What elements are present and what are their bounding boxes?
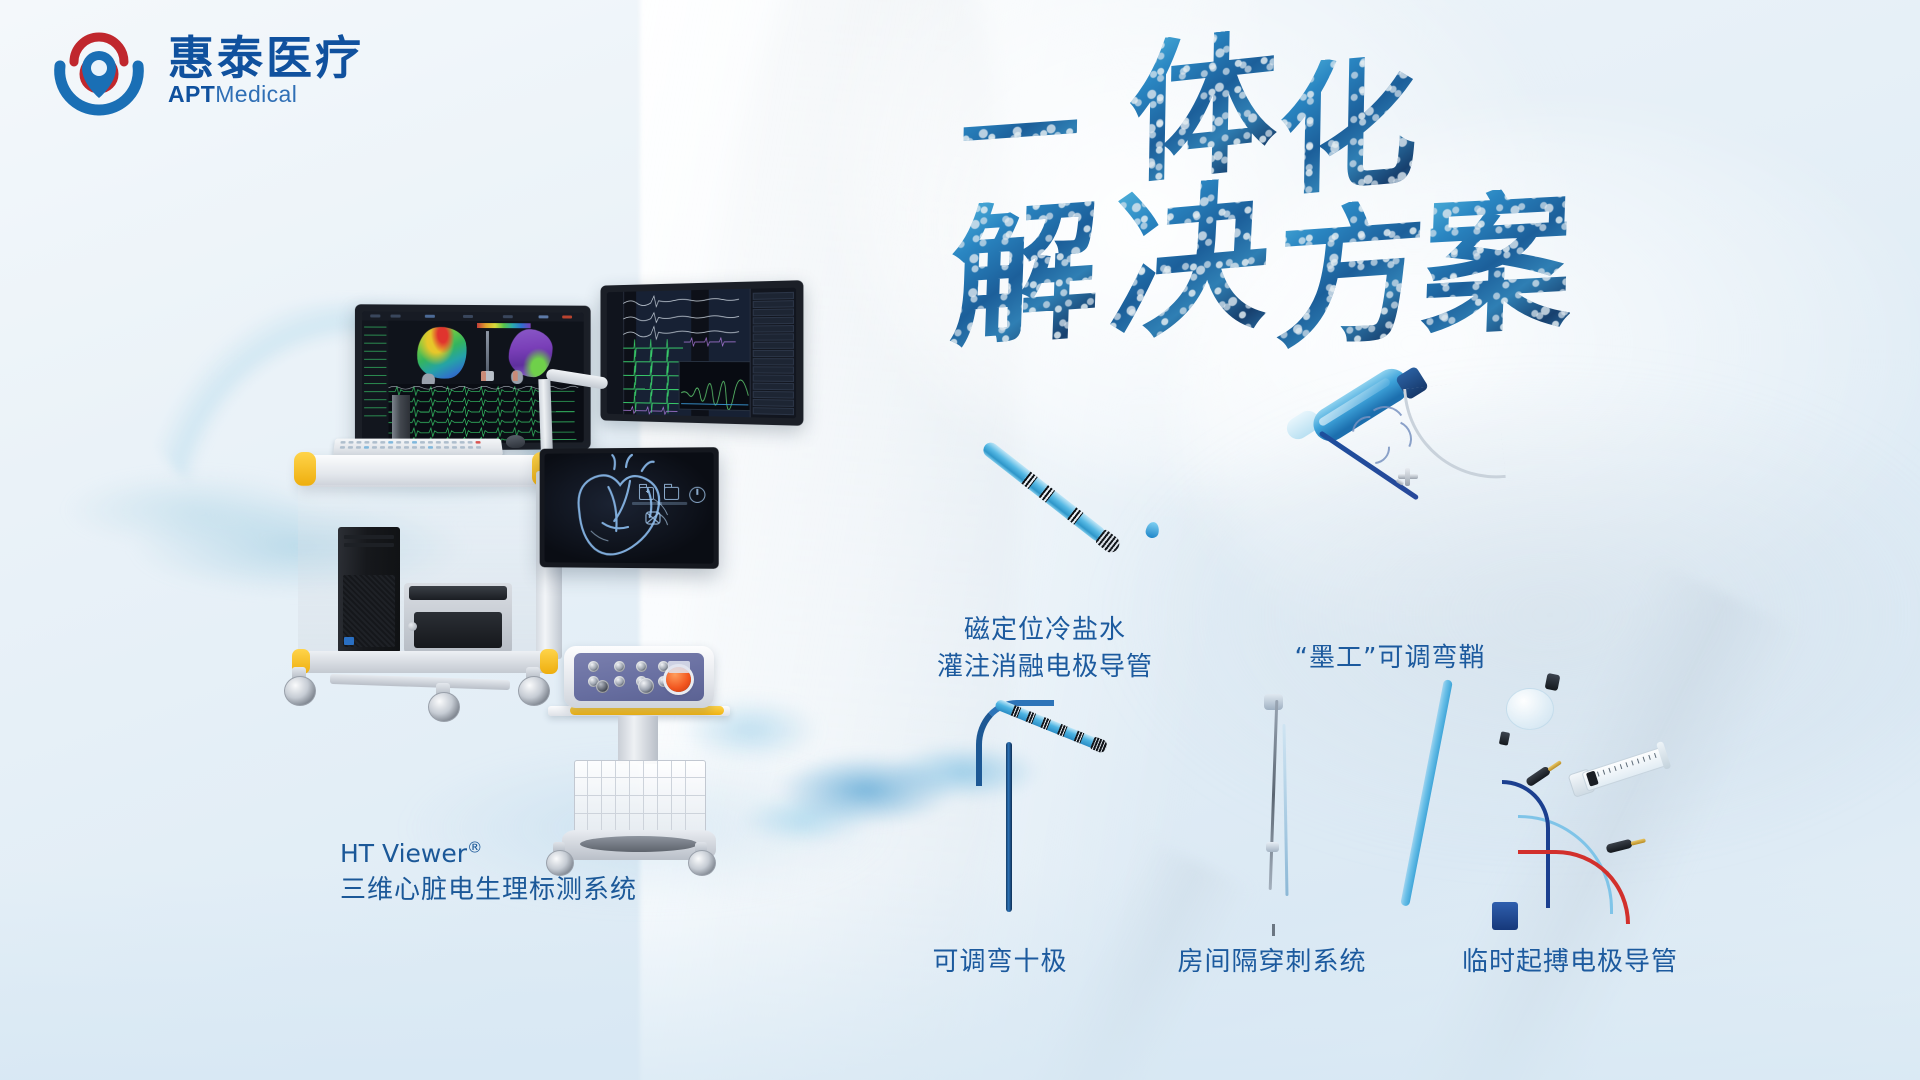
recording-parameter-list (750, 288, 796, 419)
needle-stopcock (1266, 842, 1279, 852)
body-orientation-figures (477, 369, 533, 381)
label-workstation-cn: 三维心脏电生理标测系统 (340, 872, 637, 909)
new-folder-icon[interactable] (639, 487, 654, 500)
label-decapolar-catheter: 可调弯十极 (932, 944, 1067, 981)
brand-name-en-light: Medical (215, 81, 297, 107)
heart-display-monitor (540, 447, 719, 569)
temporary-pacing-catheter (1440, 670, 1730, 930)
printer (404, 583, 512, 653)
label-transseptal-puncture-system: 房间隔穿刺系统 (1177, 944, 1366, 981)
computer-tower (338, 527, 400, 653)
needle-hub (1264, 694, 1283, 710)
headline-char-6: 方 (1274, 196, 1429, 357)
brand-name-en: APTMedical (168, 83, 364, 106)
needle-tip (1272, 924, 1275, 936)
cart-caster-front-left (284, 667, 314, 703)
brand-logo-text: 惠泰医疗 APTMedical (168, 35, 364, 106)
headline-char-4: 解 (948, 194, 1103, 355)
recording-side-panel (607, 292, 624, 414)
label-workstation-en: HT Viewer® (340, 836, 637, 872)
pacing-tip-electrode (1545, 673, 1561, 691)
cardiac-map-left (414, 324, 469, 381)
pacing-connector-block (1492, 902, 1518, 930)
pacing-balloon (1506, 688, 1554, 730)
brand-logo: 惠泰医疗 APTMedical (46, 22, 364, 118)
label-workstation: HT Viewer® 三维心脏电生理标测系统 (340, 836, 637, 908)
headline-char-1: 一 (959, 72, 1081, 201)
brand-name-en-bold: APT (168, 81, 215, 107)
generator-caster-right (688, 842, 714, 872)
pacing-lead-red (1518, 850, 1630, 924)
apt-medical-logo-icon (46, 22, 152, 118)
recording-monitor-screen (607, 288, 796, 419)
signal-detail-panel (678, 360, 750, 411)
label-irrigated-line2: 灌注消融电极导管 (937, 649, 1153, 686)
trademark-symbol: ® (467, 839, 483, 857)
mouse[interactable] (506, 435, 525, 448)
label-temporary-pacing-catheter: 临时起搏电极导管 (1462, 944, 1678, 981)
pacing-ring-electrode (1499, 731, 1510, 745)
decapolar-catheter (950, 690, 1090, 920)
voltage-color-scale (477, 323, 531, 328)
transseptal-puncture-system (1232, 700, 1322, 930)
saline-droplet (1144, 521, 1160, 539)
ablation-shaft (980, 440, 1107, 544)
cart-caster-front-right (428, 683, 458, 719)
sheath-curve-diagram (1352, 406, 1418, 466)
ablation-tip-electrode (1095, 529, 1123, 556)
keyboard[interactable] (333, 439, 503, 456)
generator-column (618, 716, 658, 764)
brand-name-cn: 惠泰医疗 (168, 35, 364, 81)
label-irrigated-line1: 磁定位冷盐水 (937, 612, 1153, 649)
headline-char-7: 案 (1419, 186, 1574, 344)
sheath-hemostasis-valve (1396, 468, 1420, 488)
open-folder-icon[interactable] (664, 487, 679, 500)
pacing-pin-red (1606, 835, 1647, 853)
inflation-syringe (1567, 736, 1689, 798)
pacing-pin-blue (1525, 758, 1563, 788)
transseptal-needle (1269, 700, 1279, 890)
mapping-ecg-waves (388, 384, 583, 444)
irrigated-ablation-catheter (985, 438, 1165, 568)
label-steerable-sheath: “墨工”可调弯鞘 (1295, 640, 1486, 677)
mapping-side-panel (362, 320, 389, 443)
cart-keyboard-tray (298, 455, 550, 487)
power-icon[interactable] (689, 487, 705, 503)
heart-display-toolbar (639, 487, 706, 503)
headline-char-3: 化 (1277, 52, 1419, 205)
steerable-sheath (1300, 360, 1520, 510)
headline-char-5: 决 (1106, 174, 1274, 349)
cart-bottom-shelf (294, 651, 556, 673)
generator-panel (574, 653, 704, 701)
generator-basket (574, 760, 706, 834)
rf-generator (564, 646, 714, 708)
cart-foot-rail (330, 674, 510, 690)
mesh-icon[interactable] (645, 511, 661, 525)
poster-canvas: 惠泰医疗 APTMedical 一 体 化 解 决 方 案 (0, 0, 1920, 1080)
headline-calligraphy: 一 体 化 解 决 方 案 (960, 40, 1620, 360)
label-irrigated-ablation-catheter: 磁定位冷盐水 灌注消融电极导管 (937, 612, 1153, 686)
heart-display-screen (545, 452, 714, 563)
recording-traces (623, 289, 750, 418)
transseptal-dilator (1282, 724, 1288, 896)
recording-monitor (600, 280, 803, 426)
